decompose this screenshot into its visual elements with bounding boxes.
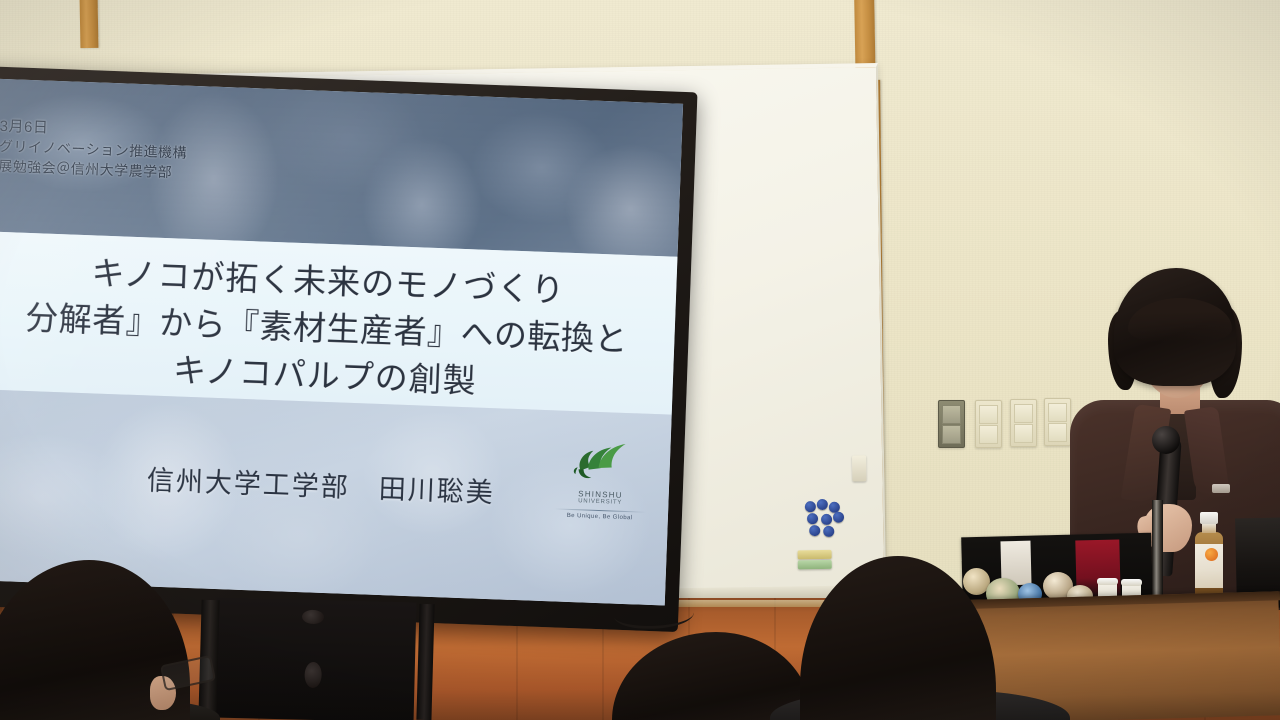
light-switch-plate[interactable] (975, 400, 1002, 448)
light-switch-plate[interactable] (938, 400, 965, 448)
microphone-stand-pole (1152, 500, 1163, 608)
display-speaker-box (214, 598, 417, 720)
switch-rocker[interactable] (1014, 424, 1033, 443)
speaker-port-icon (302, 610, 324, 625)
whiteboard-marker (798, 560, 832, 570)
bottle-cap (1200, 512, 1218, 524)
shinshu-university-logo: SHINSHU UNIVERSITY Be Unique, Be Global (554, 436, 649, 522)
wall-wood-trim-left (80, 0, 99, 48)
bottle-label-dot-icon (1205, 548, 1218, 561)
bottle-neck (1202, 523, 1216, 533)
switch-rocker[interactable] (942, 405, 961, 424)
magnet-icon (821, 514, 832, 525)
sample-cup-lid (1097, 578, 1118, 585)
magnet-icon (805, 501, 816, 512)
magnet-icon (823, 526, 834, 537)
presentation-display[interactable]: 3月6日 グリイノベーション推進機構 展勉強会＠信州大学農学部 キノコが拓く未来… (0, 66, 698, 632)
light-switch-plate[interactable] (1010, 399, 1037, 447)
whiteboard-eraser (852, 455, 866, 481)
switch-rocker[interactable] (979, 425, 998, 444)
speaker-port-icon (304, 662, 322, 688)
presenter-badge (1212, 484, 1230, 493)
magnet-icon (807, 513, 818, 524)
slide-content: 3月6日 グリイノベーション推進機構 展勉強会＠信州大学農学部 キノコが拓く未来… (0, 78, 683, 605)
switch-rocker[interactable] (979, 405, 998, 424)
microphone-head-icon (1152, 426, 1180, 454)
wing-bird-icon (570, 436, 634, 484)
magnet-icon (833, 512, 844, 523)
photo-scene: 3月6日 グリイノベーション推進機構 展勉強会＠信州大学農学部 キノコが拓く未来… (0, 0, 1280, 720)
magnet-icon (817, 499, 828, 510)
whiteboard-marker (798, 550, 832, 560)
switch-rocker[interactable] (1014, 404, 1033, 423)
sample-cup-lid (1121, 579, 1142, 586)
switch-rocker[interactable] (942, 425, 961, 444)
magnet-icon (809, 525, 820, 536)
slide-title: キノコが拓く未来のモノづくり 分解者』から『素材生産者』への転換と キノコパルプ… (0, 246, 677, 412)
slide-header: 3月6日 グリイノベーション推進機構 展勉強会＠信州大学農学部 (0, 116, 188, 182)
